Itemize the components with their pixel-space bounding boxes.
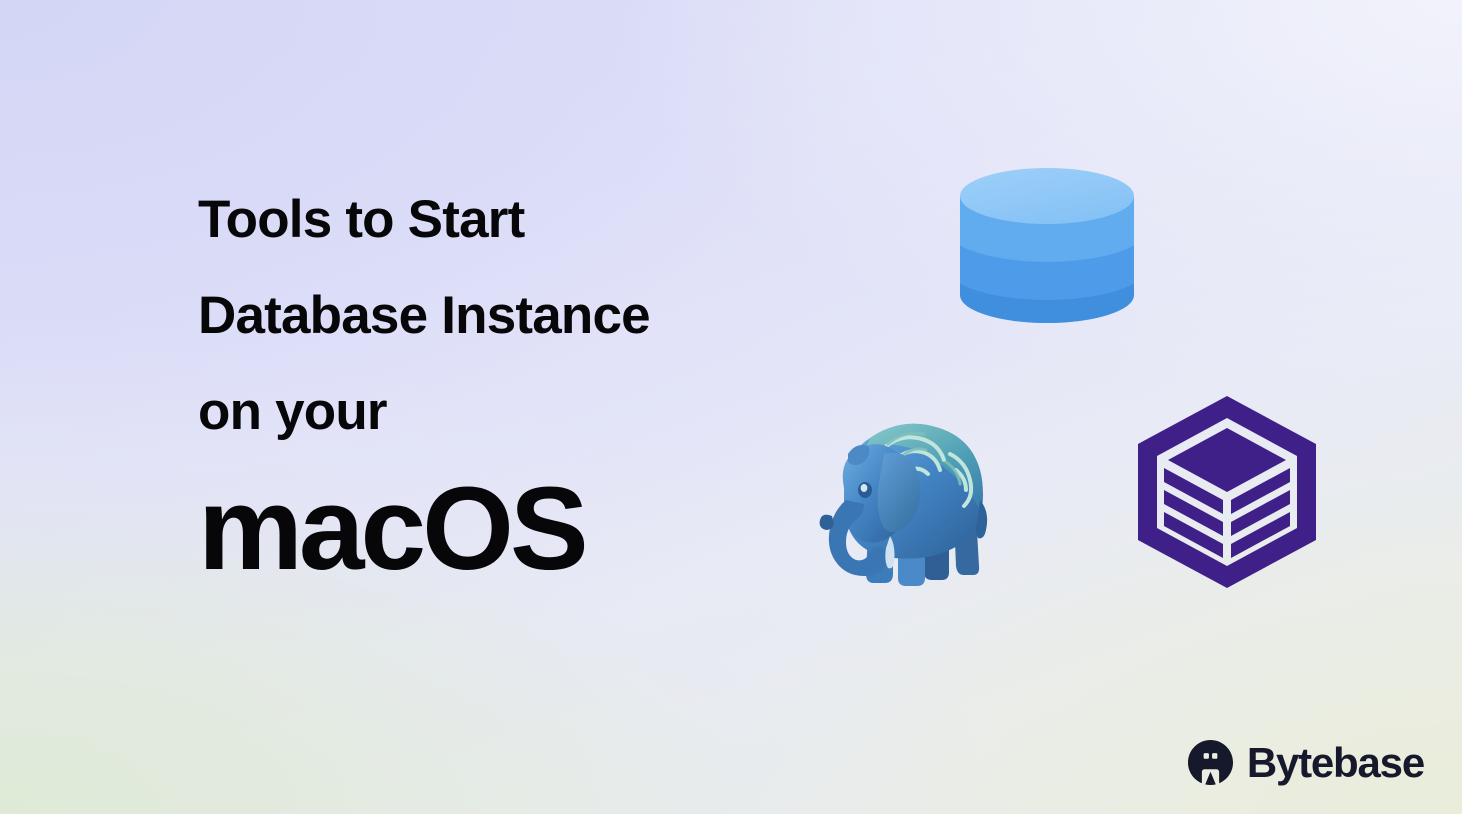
headline-emphasis-macos: macOS (198, 470, 858, 588)
bytebase-logo-mark (1187, 739, 1234, 786)
headline-line-2: Database Instance (198, 268, 858, 364)
brand-name: Bytebase (1247, 742, 1424, 784)
page-title: Tools to Start Database Instance on your… (198, 172, 858, 588)
postgresql-elephant-icon (798, 396, 998, 590)
database-cylinder-icon (958, 168, 1136, 323)
headline-line-3: on your (198, 364, 858, 460)
database-stack-hexagon-icon (1134, 394, 1320, 590)
headline-line-1: Tools to Start (198, 172, 858, 268)
brand-lockup: Bytebase (1187, 739, 1424, 786)
cover-canvas: Tools to Start Database Instance on your… (0, 0, 1462, 814)
